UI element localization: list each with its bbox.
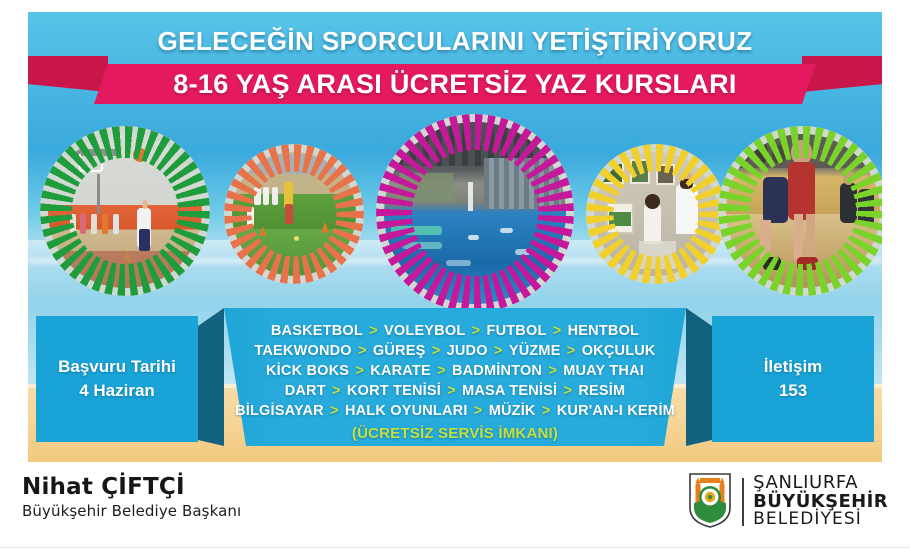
course-item: DART <box>285 383 326 399</box>
info-strip: Başvuru Tarihi 4 Haziran İletişim 153 BA… <box>28 316 882 446</box>
course-item: HENTBOL <box>568 323 639 339</box>
panel-fold-left <box>198 308 224 446</box>
course-item: RESİM <box>578 383 625 399</box>
course-separator-icon: > <box>431 363 452 379</box>
course-item: HALK OYUNLARI <box>345 403 468 419</box>
poster-root: GELECEĞİN SPORCULARINI YETİŞTİRİYORUZ 8-… <box>0 0 910 550</box>
course-item: YÜZME <box>509 343 561 359</box>
poster-subheadline: 8-16 YAŞ ARASI ÜCRETSİZ YAZ KURSLARI <box>173 69 736 100</box>
course-separator-icon: > <box>542 363 563 379</box>
course-item: TAEKWONDO <box>254 343 351 359</box>
application-date-value: 4 Haziran <box>79 381 155 401</box>
course-separator-icon: > <box>352 343 373 359</box>
course-row: BASKETBOL > VOLEYBOL > FUTBOL > HENTBOL <box>271 322 639 341</box>
contact-value: 153 <box>779 381 807 401</box>
swimming-photo <box>376 114 574 312</box>
photo-ring <box>224 144 364 284</box>
course-item: OKÇULUK <box>582 343 656 359</box>
course-item: BADMİNTON <box>452 363 542 379</box>
course-item: KİCK BOKS <box>266 363 349 379</box>
course-row: KİCK BOKS > KARATE > BADMİNTON > MUAY TH… <box>266 362 644 381</box>
logo-line-1: ŞANLIURFA <box>753 474 888 493</box>
photo-ring <box>376 114 574 312</box>
poster-artboard: GELECEĞİN SPORCULARINI YETİŞTİRİYORUZ 8-… <box>28 12 882 462</box>
courses-list: BASKETBOL > VOLEYBOL > FUTBOL > HENTBOLT… <box>224 314 686 446</box>
logo-line-3: BELEDİYESİ <box>753 511 888 529</box>
course-separator-icon: > <box>441 383 462 399</box>
photo-ring <box>40 126 210 296</box>
course-item: MÜZİK <box>489 403 536 419</box>
ribbon-tail-left <box>28 56 108 92</box>
application-date-label: Başvuru Tarihi <box>58 357 176 377</box>
course-separator-icon: > <box>468 403 489 419</box>
application-date-panel: Başvuru Tarihi 4 Haziran <box>36 316 198 442</box>
course-item: MUAY THAI <box>563 363 644 379</box>
painting-photo <box>586 144 726 284</box>
course-item: GÜREŞ <box>373 343 426 359</box>
ribbon-center: 8-16 YAŞ ARASI ÜCRETSİZ YAZ KURSLARI <box>94 64 816 104</box>
course-separator-icon: > <box>465 323 486 339</box>
course-row: TAEKWONDO > GÜREŞ > JUDO > YÜZME > OKÇUL… <box>254 342 655 361</box>
course-separator-icon: > <box>326 383 347 399</box>
mayor-name: Nihat ÇİFTÇİ <box>22 474 241 500</box>
course-separator-icon: > <box>349 363 370 379</box>
logo-wordmark: ŞANLIURFA BÜYÜKŞEHİR BELEDİYESİ <box>753 474 888 529</box>
course-item: JUDO <box>447 343 488 359</box>
course-row: DART > KORT TENİSİ > MASA TENİSİ > RESİM <box>285 382 626 401</box>
football-photo <box>224 144 364 284</box>
contact-panel: İletişim 153 <box>712 316 874 442</box>
panel-fold-right <box>686 308 712 446</box>
photo-ring <box>586 144 726 284</box>
course-item: KUR'AN-I KERİM <box>557 403 675 419</box>
course-separator-icon: > <box>324 403 345 419</box>
course-item: BİLGİSAYAR <box>235 403 324 419</box>
logo-divider <box>742 478 744 526</box>
contact-label: İletişim <box>764 357 823 377</box>
basketball-photo <box>40 126 210 296</box>
course-separator-icon: > <box>557 383 578 399</box>
crest-icon <box>687 470 733 533</box>
course-separator-icon: > <box>425 343 446 359</box>
photo-circle-group <box>28 108 882 313</box>
course-item: MASA TENİSİ <box>462 383 557 399</box>
course-item: KORT TENİSİ <box>347 383 441 399</box>
course-item: KARATE <box>370 363 431 379</box>
course-row: BİLGİSAYAR > HALK OYUNLARI > MÜZİK > KUR… <box>235 402 675 421</box>
mayor-block: Nihat ÇİFTÇİ Büyükşehir Belediye Başkanı <box>22 474 241 520</box>
ribbon-banner: 8-16 YAŞ ARASI ÜCRETSİZ YAZ KURSLARI <box>28 56 882 102</box>
course-item: BASKETBOL <box>271 323 363 339</box>
footer-rule <box>0 547 910 548</box>
wrestling-photo <box>718 126 882 296</box>
course-separator-icon: > <box>488 343 509 359</box>
course-separator-icon: > <box>561 343 582 359</box>
course-item: VOLEYBOL <box>384 323 465 339</box>
poster-headline: GELECEĞİN SPORCULARINI YETİŞTİRİYORUZ <box>28 26 882 57</box>
course-separator-icon: > <box>363 323 384 339</box>
municipality-logo: ŞANLIURFA BÜYÜKŞEHİR BELEDİYESİ <box>687 470 888 533</box>
photo-ring <box>718 126 882 296</box>
course-separator-icon: > <box>547 323 568 339</box>
ribbon-tail-right <box>802 56 882 92</box>
course-item: FUTBOL <box>487 323 547 339</box>
free-service-note: (ÜCRETSİZ SERVİS İMKANI) <box>352 423 558 444</box>
course-separator-icon: > <box>536 403 557 419</box>
mayor-role: Büyükşehir Belediye Başkanı <box>22 502 241 520</box>
page-footer: Nihat ÇİFTÇİ Büyükşehir Belediye Başkanı <box>0 462 910 550</box>
